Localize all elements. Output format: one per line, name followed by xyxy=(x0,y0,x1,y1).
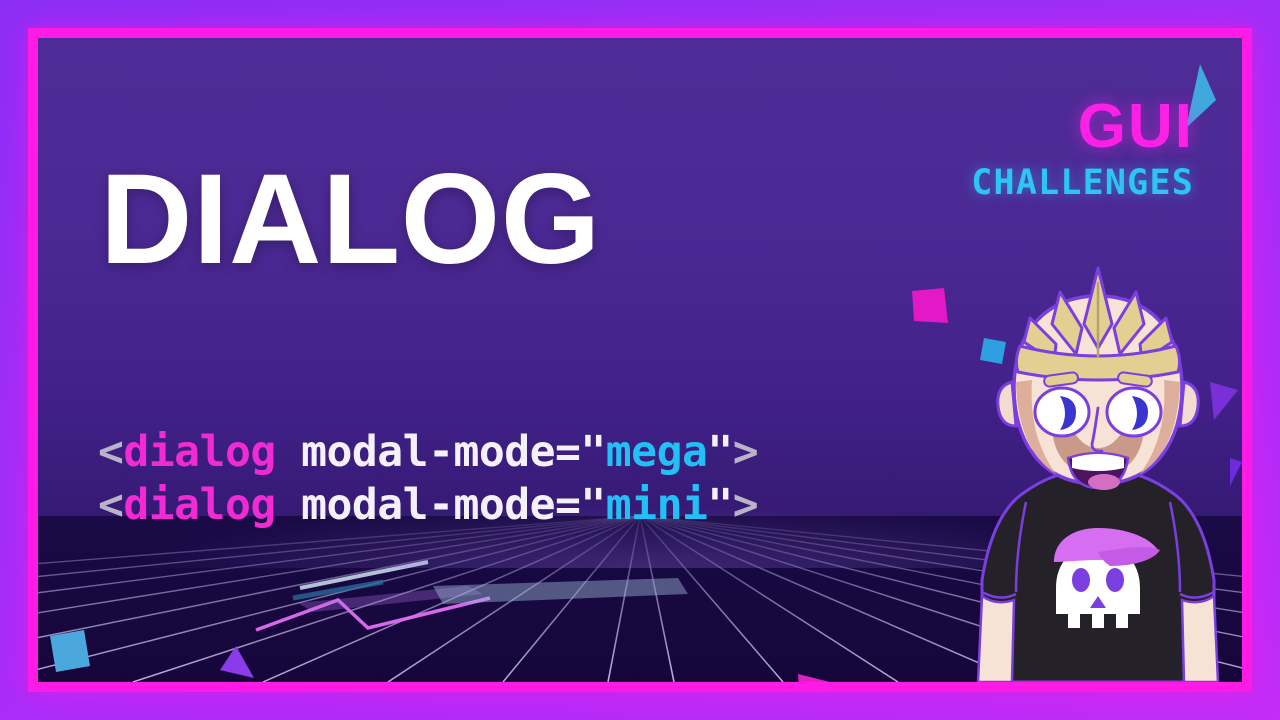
code-quote-close: " xyxy=(707,480,732,530)
code-open-bracket: < xyxy=(98,480,123,530)
code-attribute-value: mega xyxy=(606,427,708,477)
code-close-bracket: > xyxy=(733,427,758,477)
brand-logo: GUI CHALLENGES xyxy=(971,96,1194,201)
code-equals: = xyxy=(555,480,580,530)
code-attribute-name: modal-mode xyxy=(301,427,555,477)
avatar-tongue xyxy=(1088,474,1120,490)
code-line-mini: <dialog modal-mode="mini"> xyxy=(98,479,758,532)
host-avatar xyxy=(948,262,1242,682)
avatar-teeth xyxy=(1072,454,1124,471)
code-quote-close: " xyxy=(707,427,732,477)
code-space xyxy=(276,480,301,530)
brand-logo-challenges: CHALLENGES xyxy=(971,166,1194,201)
slide-stage: DIALOG <dialog modal-mode="mega"> <dialo… xyxy=(38,38,1242,682)
code-snippet: <dialog modal-mode="mega"> <dialog modal… xyxy=(98,426,758,532)
code-tag-name: dialog xyxy=(123,480,275,530)
code-tag-name: dialog xyxy=(123,427,275,477)
avatar-forearm-right xyxy=(1182,596,1218,682)
code-line-mega: <dialog modal-mode="mega"> xyxy=(98,426,758,479)
code-equals: = xyxy=(555,427,580,477)
code-quote-open: " xyxy=(580,480,605,530)
code-attribute-value: mini xyxy=(606,480,708,530)
code-quote-open: " xyxy=(580,427,605,477)
page-title: DIALOG xyxy=(100,156,601,284)
code-space xyxy=(276,427,301,477)
brand-logo-gui: GUI xyxy=(971,96,1194,158)
avatar-forearm-left xyxy=(978,596,1014,682)
code-close-bracket: > xyxy=(733,480,758,530)
slide-root: DIALOG <dialog modal-mode="mega"> <dialo… xyxy=(0,0,1280,720)
code-open-bracket: < xyxy=(98,427,123,477)
code-attribute-name: modal-mode xyxy=(301,480,555,530)
